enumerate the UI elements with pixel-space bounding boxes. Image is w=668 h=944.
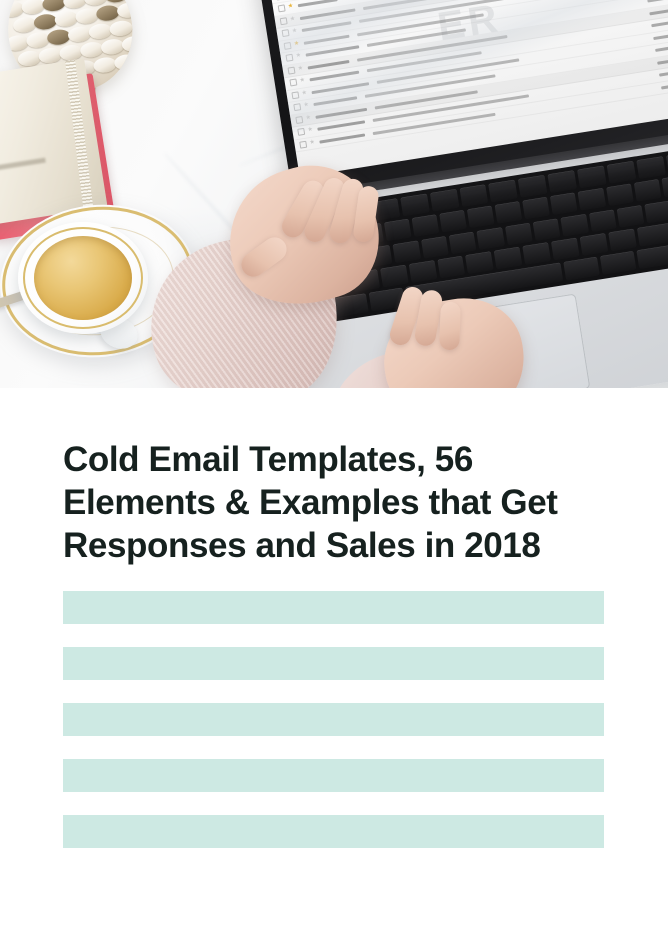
checkbox-icon [282, 29, 290, 37]
email-date [653, 33, 668, 40]
keyboard-key [505, 222, 533, 245]
keyboard-key [548, 170, 578, 193]
keyboard-key [477, 227, 505, 250]
checkbox-icon [293, 103, 301, 111]
keyboard-key [661, 173, 668, 197]
keyboard-key [636, 245, 668, 269]
email-sender [319, 133, 365, 143]
keyboard-key [494, 246, 523, 269]
checkbox-icon [284, 42, 292, 50]
keyboard-key [588, 209, 616, 232]
email-date [649, 8, 668, 15]
pineapple-scale [33, 13, 58, 31]
keyboard-key [393, 240, 421, 263]
keyboard-key [579, 233, 608, 256]
tea-liquid [34, 236, 132, 320]
keyboard-key [522, 197, 550, 220]
hero-image: ★★★★★★★★★★★★★★★★ ER [0, 0, 668, 388]
checkbox-icon [295, 116, 303, 124]
pineapple-scale [75, 7, 100, 25]
keyboard-key [533, 218, 561, 241]
email-list: ★★★★★★★★★★★★★★★★ [265, 0, 668, 152]
keyboard-key [608, 228, 637, 251]
keyboard-key [421, 236, 449, 259]
skeleton-bar [63, 815, 604, 848]
email-date [647, 0, 668, 3]
keyboard-key [634, 179, 662, 202]
email-date [655, 45, 668, 52]
star-icon: ★ [292, 29, 298, 35]
keyboard-key [518, 175, 548, 198]
email-date [661, 82, 668, 89]
keyboard-key [560, 213, 588, 236]
keyboard-key [467, 206, 495, 229]
keyboard-key [550, 193, 578, 216]
keyboard-key [449, 231, 477, 254]
star-icon: ★ [290, 17, 296, 23]
content-skeleton [63, 591, 604, 848]
teacup [18, 222, 148, 334]
checkbox-icon [280, 17, 288, 25]
skeleton-bar [63, 759, 604, 792]
checkbox-icon [299, 140, 307, 148]
checkbox-icon [297, 128, 305, 136]
keyboard-key [411, 215, 439, 238]
pineapple-scale [46, 28, 71, 46]
skeleton-bar [63, 703, 604, 736]
star-icon: ★ [309, 140, 315, 146]
page-title: Cold Email Templates, 56 Elements & Exam… [63, 438, 593, 567]
finger-right [439, 302, 461, 351]
keyboard-key [606, 184, 634, 207]
keyboard-key [437, 255, 466, 278]
checkbox-icon [278, 5, 286, 13]
star-icon: ★ [303, 103, 309, 109]
skeleton-bar [63, 647, 604, 680]
keyboard-key [600, 251, 637, 275]
star-icon: ★ [296, 54, 302, 60]
star-icon: ★ [297, 66, 303, 72]
checkbox-icon [291, 91, 299, 99]
star-icon: ★ [305, 115, 311, 121]
pineapple-scale [109, 19, 134, 37]
keyboard-key [465, 251, 494, 274]
keyboard-key [551, 237, 580, 260]
keyboard-key [577, 165, 607, 188]
keyboard-key [400, 194, 430, 217]
pineapple-scale [54, 10, 79, 28]
keyboard-key [459, 184, 489, 207]
keyboard-key [332, 293, 369, 317]
keyboard-key [636, 156, 666, 179]
keyboard-key [522, 242, 551, 265]
keyboard-key [439, 210, 467, 233]
pineapple-scale [12, 16, 37, 34]
pineapple-scale [95, 4, 120, 22]
checkbox-icon [286, 54, 294, 62]
checkbox-icon [289, 79, 297, 87]
email-date [659, 70, 668, 77]
star-icon: ★ [299, 78, 305, 84]
keyboard-key [578, 188, 606, 211]
keyboard-key [408, 260, 437, 283]
keyboard-key [383, 219, 411, 242]
star-icon: ★ [307, 128, 313, 134]
keyboard-key [616, 205, 644, 228]
pineapple-scale [25, 31, 50, 49]
email-date [651, 21, 668, 28]
pineapple-scale [88, 22, 113, 40]
pineapple-scale [67, 25, 92, 43]
pineapple-scale [100, 38, 125, 56]
star-icon: ★ [301, 91, 307, 97]
keyboard-key [489, 179, 519, 202]
pineapple-scale [113, 53, 138, 71]
star-icon: ★ [294, 41, 300, 47]
star-icon: ★ [288, 4, 294, 10]
keyboard-key [607, 161, 637, 184]
skeleton-bar [63, 591, 604, 624]
keyboard-key [380, 264, 409, 287]
notebook-cover-text [0, 158, 46, 173]
keyboard-key [495, 201, 523, 224]
pineapple-scale [5, 34, 30, 52]
checkbox-icon [287, 66, 295, 74]
email-date [657, 58, 668, 65]
keyboard-key [429, 189, 459, 212]
article-card: ★★★★★★★★★★★★★★★★ ER [0, 0, 668, 944]
keyboard-key [563, 257, 600, 281]
